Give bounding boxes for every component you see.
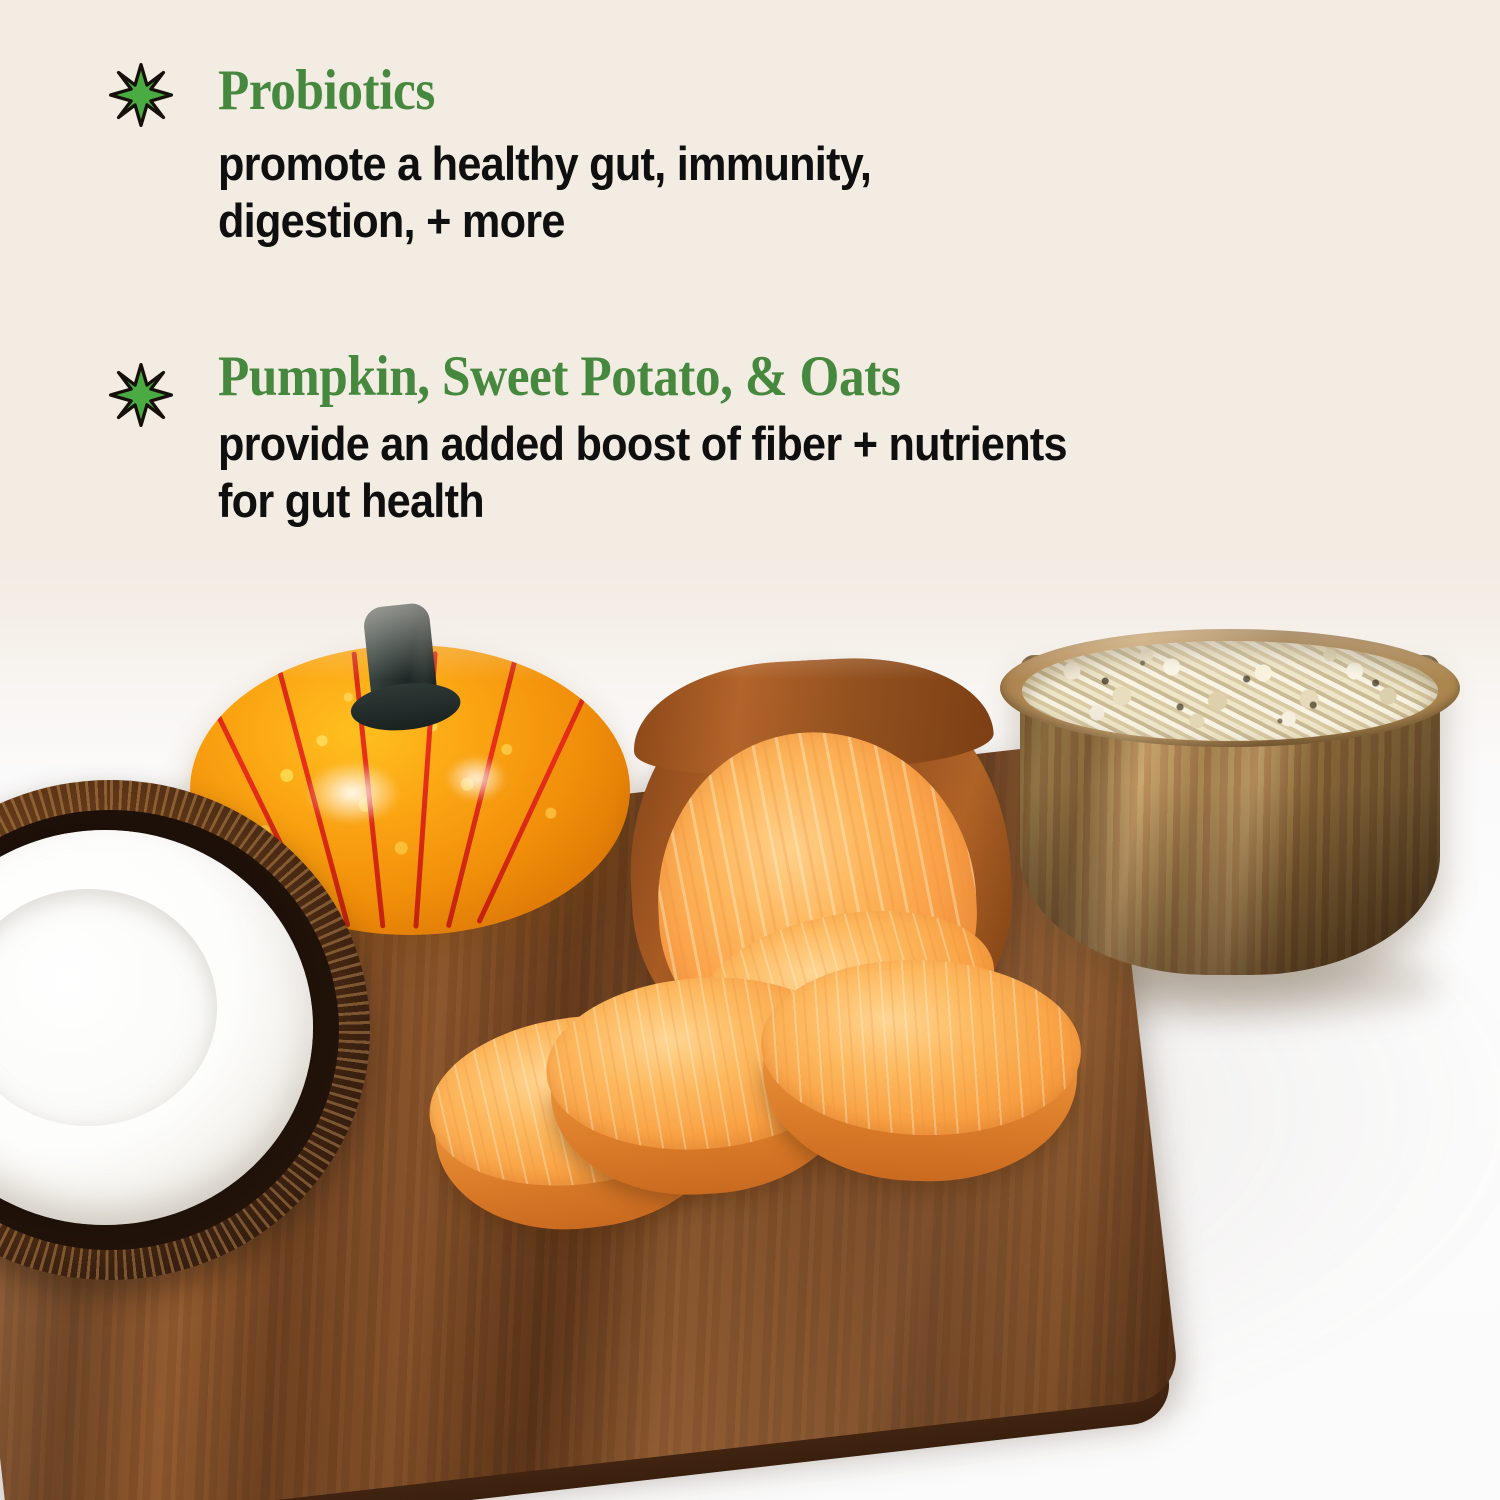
slice-face bbox=[758, 954, 1084, 1140]
feature-heading: Pumpkin, Sweet Potato, & Oats bbox=[218, 348, 1048, 405]
pumpkin-stem bbox=[362, 602, 440, 723]
sweet-potato-slice bbox=[756, 954, 1084, 1195]
oat-flecks bbox=[1022, 641, 1438, 741]
feature-body: provide an added boost of fiber + nutrie… bbox=[218, 415, 1067, 530]
oats-pile bbox=[1022, 641, 1438, 741]
oat-bowl bbox=[1000, 595, 1460, 995]
product-feature-graphic: Probiotics promote a healthy gut, immuni… bbox=[0, 0, 1500, 1500]
feature-probiotics: Probiotics promote a healthy gut, immuni… bbox=[108, 62, 928, 250]
feature-pumpkin-sweet-potato-oats: Pumpkin, Sweet Potato, & Oats provide an… bbox=[108, 348, 1141, 530]
coconut-hollow bbox=[0, 889, 217, 1126]
starburst-icon bbox=[108, 362, 174, 428]
ingredient-photo bbox=[0, 530, 1500, 1500]
feature-body: promote a healthy gut, immunity, digesti… bbox=[218, 135, 871, 250]
feature-copy-block: Probiotics promote a healthy gut, immuni… bbox=[0, 0, 1500, 600]
pumpkin-highlight bbox=[445, 755, 507, 801]
feature-heading: Probiotics bbox=[218, 62, 857, 119]
coconut-half bbox=[0, 780, 370, 1280]
starburst-icon bbox=[108, 62, 174, 128]
